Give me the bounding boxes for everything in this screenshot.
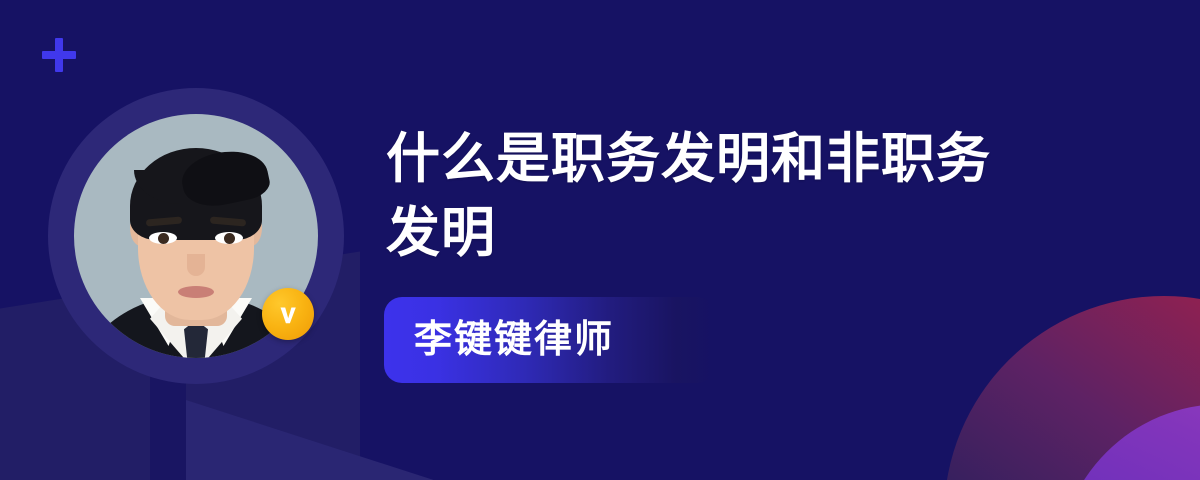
plus-icon (42, 38, 76, 72)
plus-icon-bar-vertical (55, 38, 63, 72)
portrait-eye-right (215, 232, 243, 244)
headline-container: 什么是职务发明和非职务 发明 (386, 122, 1086, 270)
avatar[interactable] (48, 88, 344, 384)
verified-badge-icon (262, 288, 314, 340)
author-name-label: 李键键律师 (414, 321, 614, 359)
portrait-nose (187, 254, 205, 276)
portrait-mouth (178, 286, 214, 298)
portrait-eye-left (149, 232, 177, 244)
portrait-pupil-left (158, 233, 169, 244)
portrait-pupil-right (224, 233, 235, 244)
author-button[interactable]: 李键键律师 (384, 297, 716, 383)
article-banner: 什么是职务发明和非职务 发明 李键键律师 (0, 0, 1200, 480)
page-title: 什么是职务发明和非职务 发明 (386, 122, 1086, 270)
